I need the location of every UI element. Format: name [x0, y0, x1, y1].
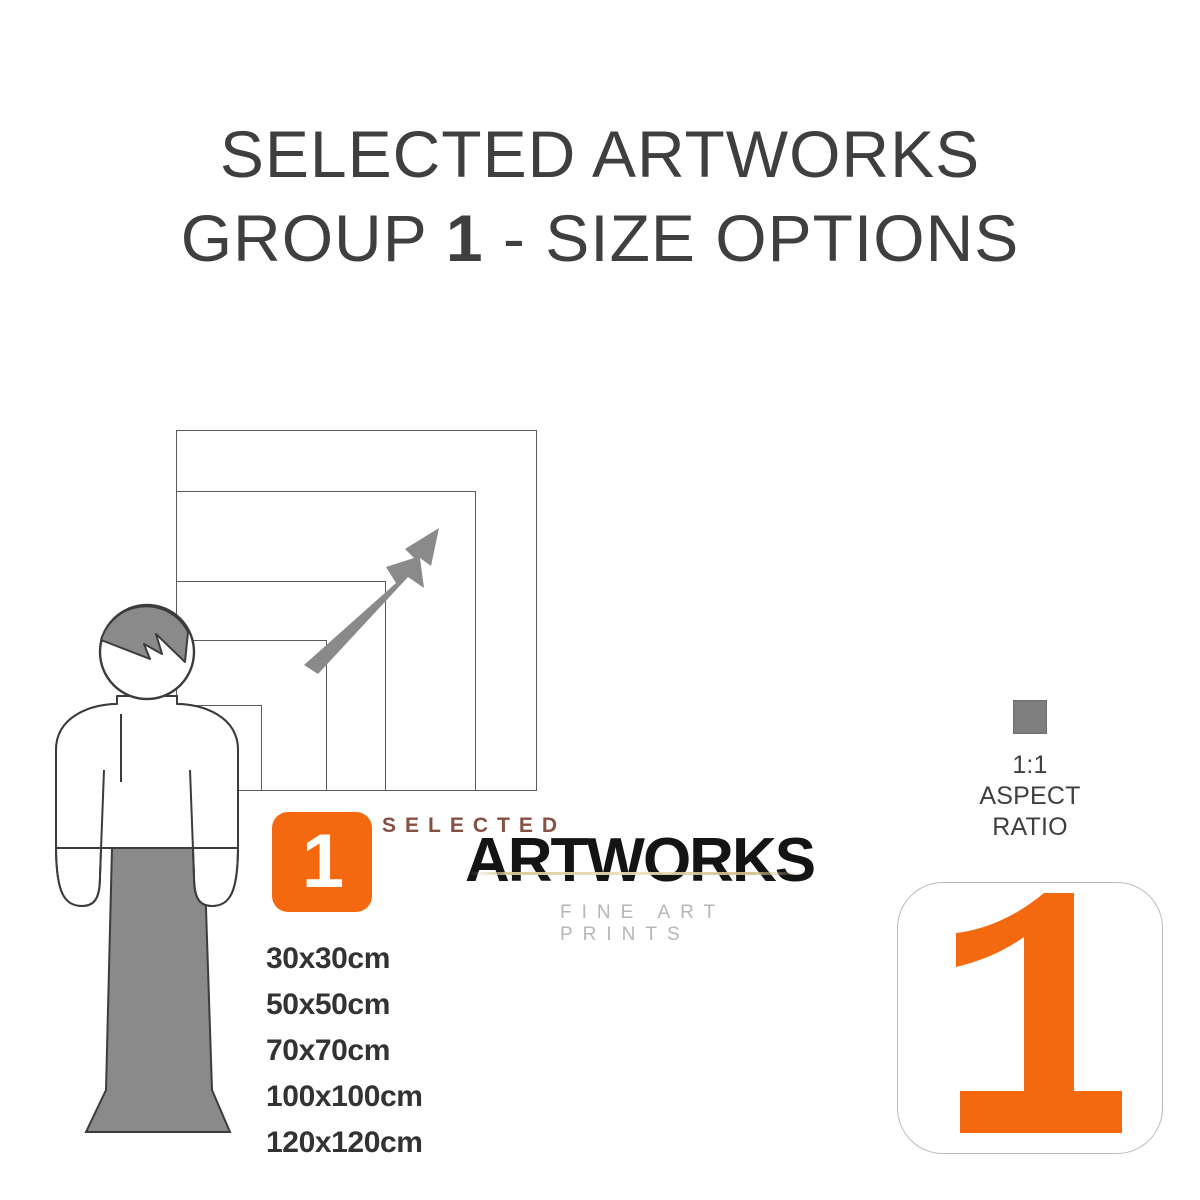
group-card-number-glyph	[898, 883, 1164, 1155]
logo-distress-streak	[470, 872, 800, 875]
logo-badge-number: 1	[272, 812, 372, 912]
logo-artworks-text: ARTWORKS	[465, 830, 814, 892]
page-title: SELECTED ARTWORKS GROUP 1 - SIZE OPTIONS	[0, 112, 1200, 280]
title-size-options-suffix: - SIZE OPTIONS	[484, 201, 1020, 275]
figure-torso-fill	[56, 696, 238, 848]
logo-wordmarks: SELECTED ARTWORKS FINE ART PRINTS	[382, 812, 832, 922]
title-group-prefix: GROUP	[181, 201, 446, 275]
aspect-label-line-1: ASPECT	[930, 781, 1130, 812]
aspect-ratio-swatch	[1013, 700, 1047, 734]
logo-tagline: FINE ART PRINTS	[560, 902, 832, 946]
aspect-ratio-value: 1:1	[930, 750, 1130, 781]
aspect-ratio-legend: 1:1 ASPECT RATIO	[930, 700, 1130, 843]
aspect-label-line-2: RATIO	[930, 812, 1130, 843]
title-line-1: SELECTED ARTWORKS	[0, 112, 1200, 196]
size-option-item[interactable]: 100x100cm	[266, 1074, 596, 1120]
growth-arrow-icon	[296, 522, 456, 674]
group-number-card	[897, 882, 1163, 1154]
size-options-list: 30x30cm 50x50cm 70x70cm 100x100cm 120x12…	[266, 936, 596, 1166]
title-line-2: GROUP 1 - SIZE OPTIONS	[0, 196, 1200, 280]
group-card-number-path	[956, 893, 1122, 1133]
brand-logo: 1 SELECTED ARTWORKS FINE ART PRINTS	[272, 812, 832, 922]
size-option-item[interactable]: 120x120cm	[266, 1120, 596, 1166]
size-option-item[interactable]: 30x30cm	[266, 936, 596, 982]
human-scale-figure	[38, 600, 278, 1160]
size-option-item[interactable]: 50x50cm	[266, 982, 596, 1028]
size-option-item[interactable]: 70x70cm	[266, 1028, 596, 1074]
title-group-number: 1	[446, 201, 484, 275]
